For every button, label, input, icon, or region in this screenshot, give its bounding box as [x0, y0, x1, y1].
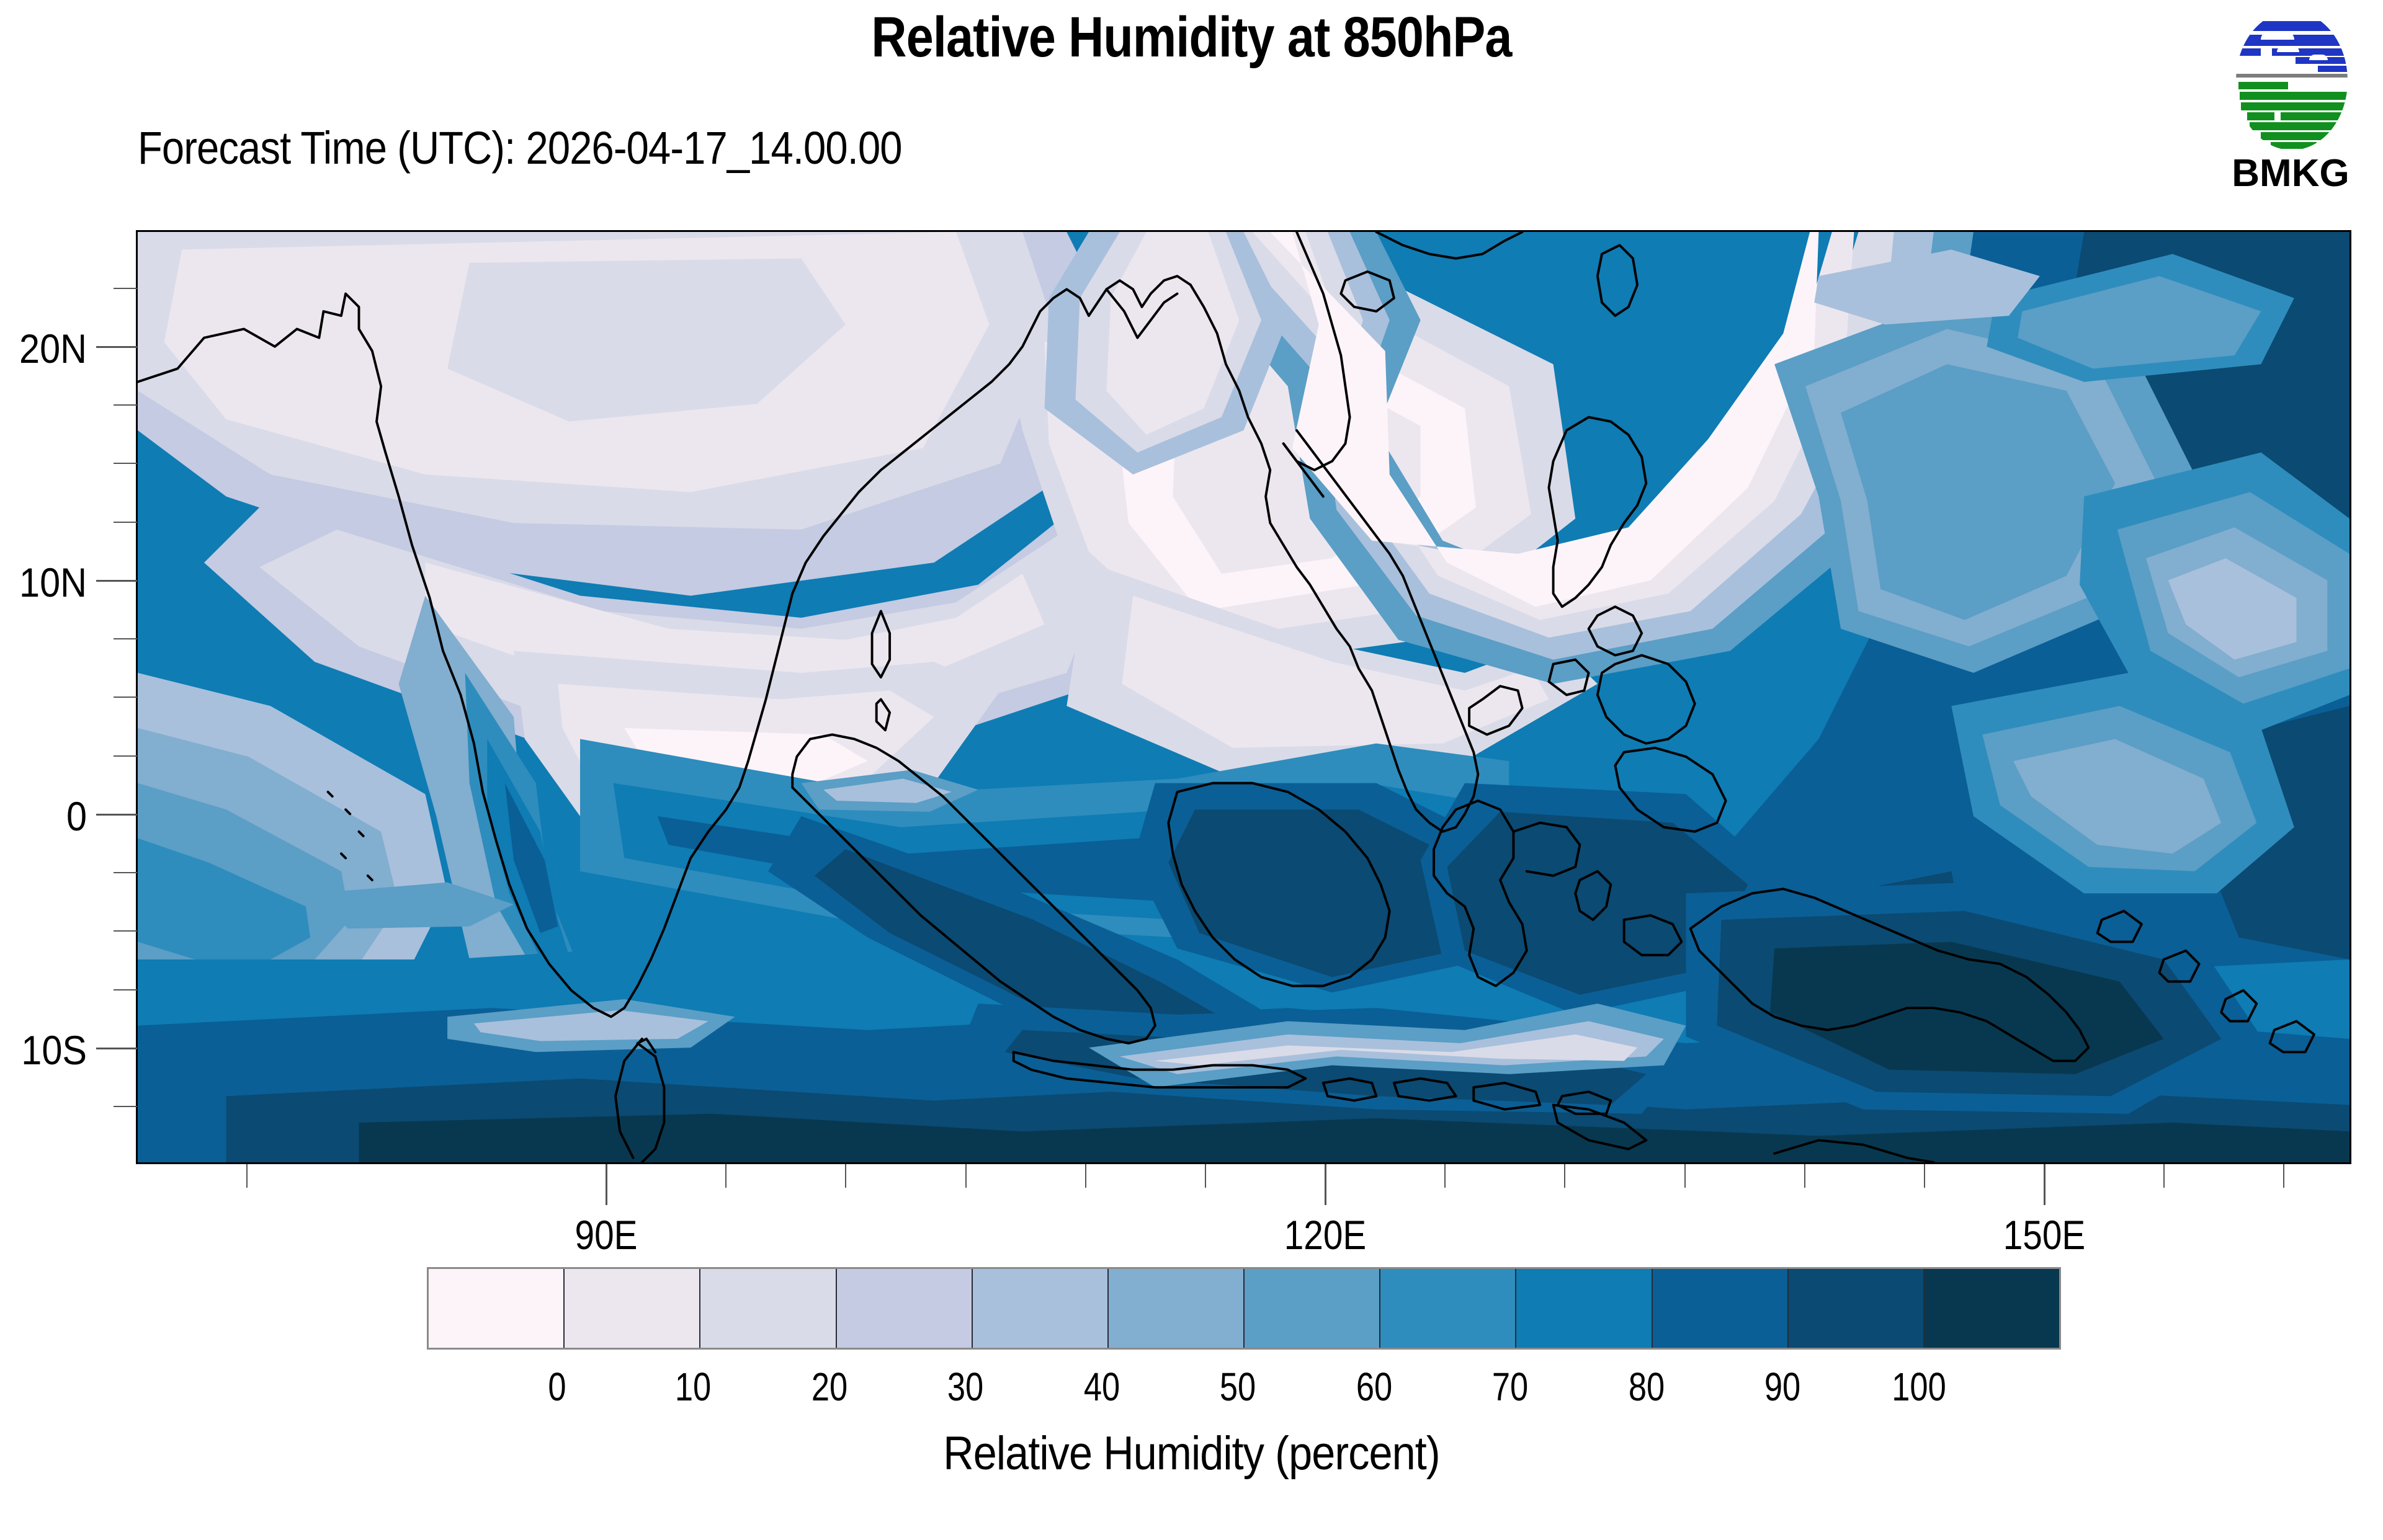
y-minor-tick: [114, 755, 137, 757]
y-axis-label-20n: 20N: [9, 325, 87, 372]
y-major-tick: [96, 1048, 137, 1049]
x-minor-tick: [246, 1164, 248, 1188]
colorbar-swatch: [1516, 1269, 1652, 1348]
colorbar-swatch: [1789, 1269, 1925, 1348]
x-minor-tick: [845, 1164, 846, 1188]
colorbar-swatch: [973, 1269, 1109, 1348]
y-axis-label-10n: 10N: [9, 559, 87, 606]
colorbar-tick-0: 0: [506, 1364, 608, 1410]
y-major-tick: [96, 580, 137, 582]
humidity-map-plot[interactable]: [136, 230, 2351, 1164]
colorbar-swatch: [700, 1269, 836, 1348]
x-minor-tick: [1564, 1164, 1565, 1188]
colorbar-tick-60: 60: [1323, 1364, 1425, 1410]
x-major-tick: [1325, 1164, 1326, 1205]
colorbar-swatch: [837, 1269, 973, 1348]
colorbar-swatch: [1109, 1269, 1245, 1348]
x-axis-label-90e: 90E: [526, 1211, 686, 1258]
colorbar[interactable]: [427, 1267, 2061, 1350]
y-minor-tick: [114, 404, 137, 406]
colorbar-tick-10: 10: [642, 1364, 744, 1410]
x-major-tick: [606, 1164, 607, 1205]
x-minor-tick: [1085, 1164, 1086, 1188]
colorbar-swatch: [1925, 1269, 2059, 1348]
y-minor-tick: [114, 930, 137, 932]
x-minor-tick: [725, 1164, 727, 1188]
x-minor-tick: [2283, 1164, 2284, 1188]
x-minor-tick: [1804, 1164, 1805, 1188]
x-major-tick: [2044, 1164, 2045, 1205]
x-minor-tick: [1444, 1164, 1446, 1188]
y-minor-tick: [114, 288, 137, 289]
logo-wordmark: BMKG: [2222, 151, 2359, 195]
y-minor-tick: [114, 989, 137, 990]
colorbar-tick-50: 50: [1187, 1364, 1289, 1410]
forecast-time-label: Forecast Time (UTC): 2026-04-17_14.00.00: [138, 122, 902, 174]
x-minor-tick: [1205, 1164, 1206, 1188]
colorbar-tick-30: 30: [914, 1364, 1016, 1410]
humidity-field: [138, 232, 2349, 1162]
colorbar-tick-70: 70: [1459, 1364, 1561, 1410]
x-axis-label-150e: 150E: [1964, 1211, 2124, 1258]
y-minor-tick: [114, 872, 137, 873]
logo-disc-clip: [2236, 12, 2348, 149]
y-minor-tick: [114, 1106, 137, 1107]
page-title: Relative Humidity at 850hPa: [167, 5, 2216, 70]
logo-disc: [2236, 12, 2348, 149]
x-minor-tick: [2163, 1164, 2165, 1188]
colorbar-tick-100: 100: [1868, 1364, 1970, 1410]
y-minor-tick: [114, 522, 137, 523]
y-minor-tick: [114, 463, 137, 464]
colorbar-tick-90: 90: [1732, 1364, 1833, 1410]
bmkg-logo: BMKG: [2222, 4, 2359, 208]
y-major-tick: [96, 814, 137, 816]
colorbar-swatch: [1653, 1269, 1789, 1348]
y-axis-label-0: 0: [9, 793, 87, 840]
y-minor-tick: [114, 697, 137, 698]
y-axis-label-10s: 10S: [9, 1026, 87, 1074]
colorbar-tick-40: 40: [1051, 1364, 1153, 1410]
x-minor-tick: [1924, 1164, 1925, 1188]
colorbar-swatch: [429, 1269, 565, 1348]
colorbar-axis-label: Relative Humidity (percent): [119, 1427, 2264, 1480]
colorbar-swatch: [1380, 1269, 1516, 1348]
colorbar-swatch: [565, 1269, 700, 1348]
x-minor-tick: [1684, 1164, 1686, 1188]
colorbar-tick-20: 20: [779, 1364, 880, 1410]
y-minor-tick: [114, 638, 137, 639]
x-axis-label-120e: 120E: [1245, 1211, 1405, 1258]
colorbar-tick-80: 80: [1596, 1364, 1697, 1410]
y-major-tick: [96, 346, 137, 348]
colorbar-swatch: [1245, 1269, 1380, 1348]
x-minor-tick: [965, 1164, 967, 1188]
